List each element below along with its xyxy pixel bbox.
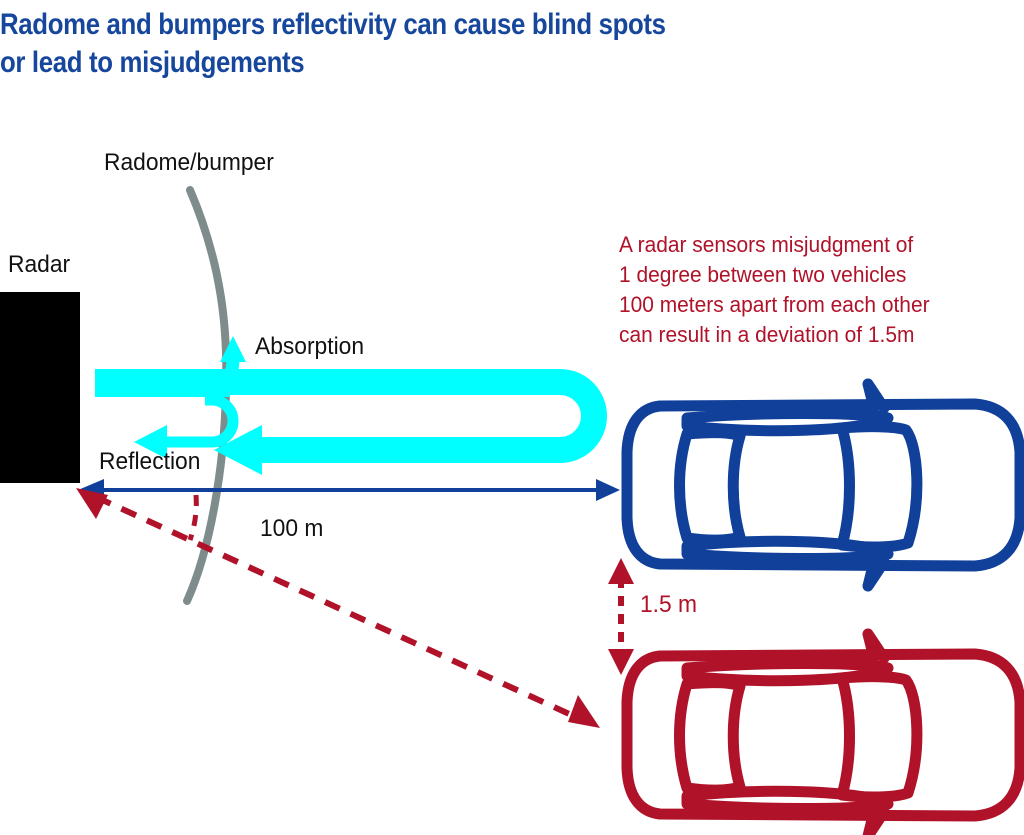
radar-block [0,292,80,483]
vehicle-blue [627,384,1020,586]
vehicle-red-crease-bottom [687,791,888,808]
label-radar: Radar [8,252,70,278]
vehicle-red-windshield [842,677,917,797]
diagram-canvas: Radome and bumpers reflectivity can caus… [0,0,1024,835]
vehicle-blue-windshield [842,427,917,547]
misjudgment-ray-head-right [568,695,600,728]
vehicle-blue-rearwindow [680,433,741,540]
label-absorption: Absorption [255,334,364,360]
beam-incoming-band [95,369,230,397]
vehicle-blue-crease-top [687,414,888,431]
label-radome-bumper: Radome/bumper [104,150,274,176]
vehicle-red-crease-top [687,664,888,681]
vehicle-red-mirror-top [868,634,884,658]
misjudgment-ray-shaft [96,497,578,718]
vehicle-red-rearwindow [680,683,741,790]
vehicle-red-mirror-bottom [868,812,884,835]
vehicle-blue-crease-bottom [687,541,888,558]
label-distance-100m: 100 m [260,516,323,542]
diagram-svg [0,0,1024,835]
beam-loop-path [225,382,594,450]
vehicle-red [627,634,1020,835]
vehicle-blue-mirror-top [868,384,884,408]
angle-arc [190,495,196,540]
vehicle-blue-mirror-bottom [868,562,884,586]
deviation-arrow-head-top [608,558,634,584]
label-deviation-1-5m: 1.5 m [640,592,697,618]
distance-arrow-head-right [596,479,620,501]
label-reflection: Reflection [99,449,200,475]
